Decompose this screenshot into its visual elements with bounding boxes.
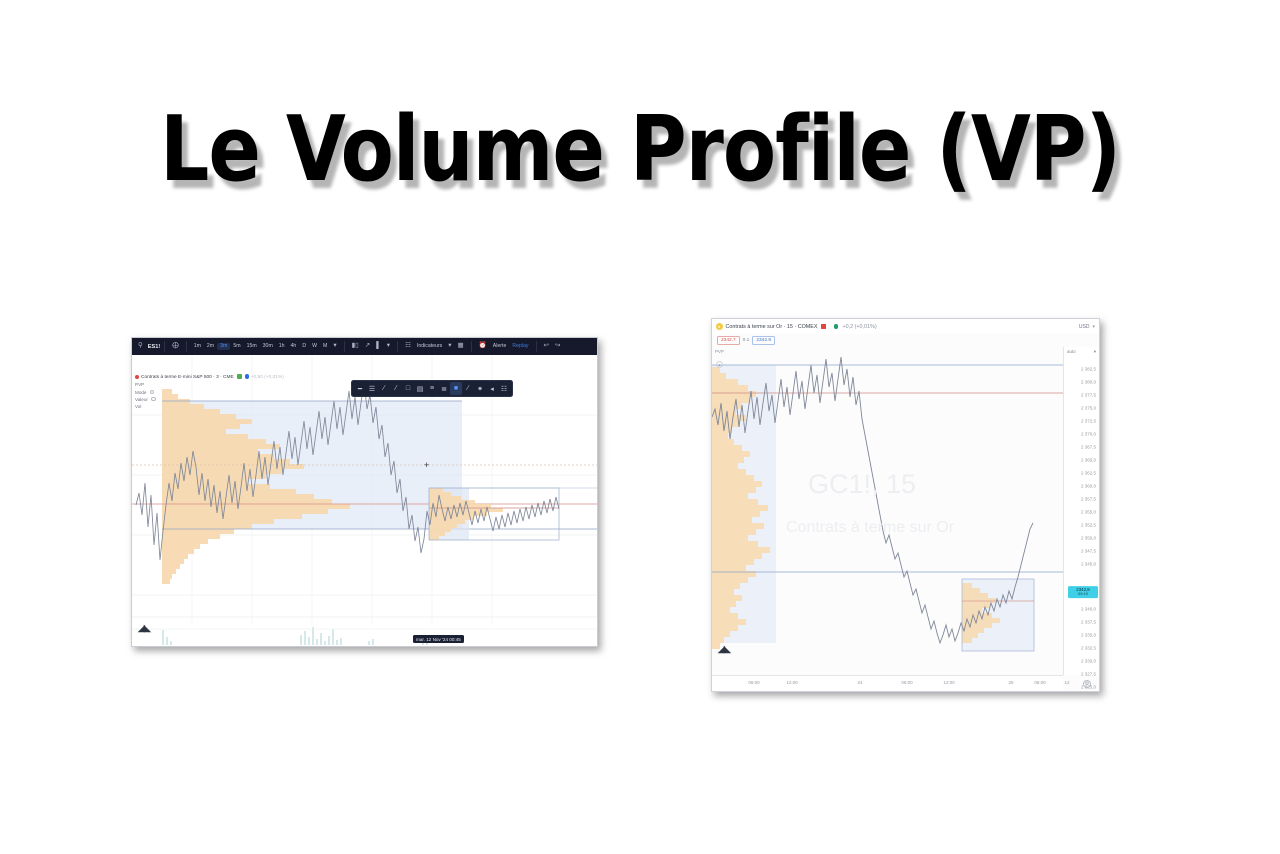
text-tool-icon[interactable]: ⁕ (474, 382, 486, 395)
price-tick: 2 380,0 (1081, 380, 1096, 385)
pitchfork-icon[interactable]: ∕ (462, 382, 474, 395)
indicators-button[interactable]: Indicateurs (414, 343, 445, 350)
time-tick: 12:00 (943, 680, 954, 685)
arrow-marker-icon[interactable]: ◂ (486, 382, 498, 395)
toolbar-divider (471, 341, 472, 352)
price-tick: 2 372,5 (1081, 419, 1096, 424)
toolbar-divider (536, 341, 537, 352)
horizontal-line-icon[interactable]: ━ (354, 382, 366, 395)
green-dot-icon (834, 324, 839, 329)
chevron-up-icon[interactable]: ▴ (716, 361, 723, 368)
currency-label[interactable]: USD (1079, 324, 1090, 330)
ray-line-icon[interactable]: ⁄ (390, 382, 402, 395)
price-tick: 2 360,0 (1081, 484, 1096, 489)
green-square-icon (237, 374, 242, 379)
right-price-scale[interactable]: auto ▾ 2 382,5 2 380,0 2 377,5 2 375,0 2… (1063, 347, 1099, 675)
time-tick: 24 (857, 680, 862, 685)
timeframe-2m[interactable]: 2m (204, 343, 217, 350)
timeframe-m[interactable]: M (320, 343, 330, 350)
red-square-icon (821, 324, 826, 329)
price-tick: 2 347,5 (1081, 549, 1096, 554)
right-indicator-label: PVP (715, 349, 724, 354)
toolbar-divider (164, 341, 165, 352)
fixed-range-volume-profile-icon[interactable]: ■ (450, 382, 462, 395)
price-tick: 2 370,0 (1081, 432, 1096, 437)
spread-value: 0.1 (743, 338, 750, 343)
left-chart-plot[interactable]: Contrats à terme E-mini S&P 500 · 3 · CM… (132, 355, 597, 646)
time-tick: 06:00 (1034, 680, 1045, 685)
replay-button[interactable]: Replay (509, 343, 531, 350)
symbol-dot-icon (135, 375, 139, 379)
price-tick: 2 345,0 (1081, 562, 1096, 567)
time-tick: 06:00 (748, 680, 759, 685)
chevron-down-icon[interactable]: ▾ (384, 343, 393, 350)
undo-icon[interactable]: ↩ (541, 343, 552, 350)
timeframe-3m[interactable]: 3m (217, 343, 230, 350)
right-time-axis[interactable]: 06:00 12:00 24 06:00 12:00 25 06:00 12 (712, 675, 1063, 691)
redo-icon[interactable]: ↪ (552, 343, 563, 350)
gold-bar-icon: ● (716, 323, 723, 330)
rectangle-icon[interactable]: □ (402, 382, 414, 395)
page-title: Le Volume Profile (VP) (0, 96, 1280, 201)
price-tick: 2 375,0 (1081, 406, 1096, 411)
timeframe-15m[interactable]: 15m (244, 343, 260, 350)
chevron-down-icon[interactable]: ▾ (1092, 324, 1095, 330)
tradingview-logo-icon: ◢◣ (138, 623, 150, 634)
right-chart-header: ● Contrats à terme sur Or · 15 · COMEX +… (712, 319, 1099, 334)
legend-indicator-name: PVP (135, 381, 284, 388)
alert-clock-icon[interactable]: ⏰ (476, 343, 490, 350)
price-scale-mode-label[interactable]: auto (1067, 349, 1076, 355)
timeframe-1h[interactable]: 1h (276, 343, 288, 350)
price-scale-header[interactable]: auto ▾ (1064, 347, 1099, 355)
time-tick: 25 (1008, 680, 1013, 685)
floating-drawing-toolbar[interactable]: ━ ☰ ∕ ⁄ □ ▤ ≡ ≣ ■ ∕ ⁕ ◂ ☷ (351, 380, 513, 397)
text-note-icon[interactable]: ☰ (366, 382, 378, 395)
ask-price[interactable]: 2342.8 (752, 336, 775, 345)
price-tick: 2 340,0 (1081, 607, 1096, 612)
price-tick: 2 330,0 (1081, 659, 1096, 664)
timeframe-30m[interactable]: 30m (260, 343, 276, 350)
left-chart-legend: Contrats à terme E-mini S&P 500 · 3 · CM… (135, 374, 284, 410)
indicators-icon[interactable]: ☷ (402, 343, 414, 350)
price-tick: 2 382,5 (1081, 367, 1096, 372)
timeframe-d[interactable]: D (299, 343, 309, 350)
bid-price[interactable]: 2342.7 (717, 336, 740, 345)
legend-mode-label: Mode (135, 390, 147, 395)
right-chart-title: Contrats à terme sur Or · 15 · COMEX (726, 324, 818, 330)
left-chart-screenshot: ⚲ ES1! ⨁ 1m 2m 3m 5m 15m 30m 1h 4h D W M… (131, 337, 598, 647)
price-tick: 2 362,5 (1081, 471, 1096, 476)
right-chart-plot[interactable]: PVP ▴ GC1!, 15 Contrats à terme sur Or (712, 347, 1063, 675)
toolbar-divider (186, 341, 187, 352)
legend-vol-row: Vol (135, 403, 284, 410)
price-tick: 2 337,5 (1081, 620, 1096, 625)
legend-value-row: Valeur (135, 396, 284, 403)
grid-templates-icon[interactable]: ▦ (455, 343, 467, 350)
line-chart-icon[interactable]: ↗ (362, 343, 373, 350)
legend-mode-row: Mode (135, 389, 284, 396)
search-icon[interactable]: ⚲ (135, 343, 146, 350)
bar-chart-icon[interactable]: ▌ (373, 343, 384, 350)
legend-vol-label: Vol (135, 404, 141, 409)
timeframe-4h[interactable]: 4h (288, 343, 300, 350)
right-chart-screenshot: ● Contrats à terme sur Or · 15 · COMEX +… (711, 318, 1100, 692)
time-tick: 12 (1064, 680, 1069, 685)
right-chart-quotes: 2342.7 0.1 2342.8 (712, 334, 1099, 347)
bar-countdown: 09:10 (1070, 592, 1096, 597)
price-tick: 2 350,0 (1081, 536, 1096, 541)
current-price-pill: 2342,8 09:10 (1068, 586, 1098, 598)
magnet-icon[interactable]: ☷ (498, 382, 510, 395)
timeframe-w[interactable]: W (309, 343, 320, 350)
short-position-icon[interactable]: ≣ (438, 382, 450, 395)
crosshair-plus-icon: + (424, 461, 429, 470)
toolbar-divider (344, 341, 345, 352)
price-tick: 2 357,5 (1081, 497, 1096, 502)
legend-symbol-title: Contrats à terme E-mini S&P 500 · 3 · CM… (141, 375, 234, 380)
time-tick: 06:00 (901, 680, 912, 685)
right-chart-change: +0,2 (+0,01%) (842, 324, 876, 330)
long-position-icon[interactable]: ≡ (426, 382, 438, 395)
legend-symbol-row: Contrats à terme E-mini S&P 500 · 3 · CM… (135, 374, 284, 381)
timeframe-5m[interactable]: 5m (230, 343, 243, 350)
price-tick: 2 377,5 (1081, 393, 1096, 398)
price-tick: 2 352,5 (1081, 523, 1096, 528)
alert-button[interactable]: Alerte (490, 343, 510, 350)
toolbar-divider (397, 341, 398, 352)
table-icon[interactable]: ▤ (414, 382, 426, 395)
legend-change: +0,50 (+0,01%) (251, 375, 284, 380)
price-tick: 2 332,5 (1081, 646, 1096, 651)
plus-circle-icon[interactable]: ⨁ (169, 343, 182, 350)
price-tick: 2 327,5 (1081, 672, 1096, 677)
legend-value-label: Valeur (135, 397, 148, 402)
chevron-down-icon[interactable]: ▾ (1094, 349, 1096, 355)
price-tick: 2 355,0 (1081, 510, 1096, 515)
mode-toggle-icon[interactable] (150, 390, 155, 395)
left-chart-toolbar: ⚲ ES1! ⨁ 1m 2m 3m 5m 15m 30m 1h 4h D W M… (132, 338, 597, 355)
candlestick-icon[interactable]: ▮▯ (349, 343, 362, 350)
value-toggle-icon[interactable] (151, 397, 156, 402)
time-tooltip: mar. 12 Nov '24 00:45 (413, 635, 464, 643)
timeframe-1m[interactable]: 1m (191, 343, 204, 350)
chevron-down-icon[interactable]: ▾ (330, 343, 339, 350)
tradingview-logo-icon: ◢◣ (718, 644, 730, 655)
symbol-button[interactable]: ES1! (146, 344, 160, 350)
price-tick: 2 365,0 (1081, 458, 1096, 463)
chevron-down-icon[interactable]: ▾ (445, 343, 454, 350)
right-chart-svg (712, 347, 1063, 675)
trend-line-icon[interactable]: ∕ (378, 382, 390, 395)
price-tick: 2 335,0 (1081, 633, 1096, 638)
price-tick: 2 367,5 (1081, 445, 1096, 450)
time-tick: 12:00 (786, 680, 797, 685)
gear-icon[interactable]: ⚙ (1083, 680, 1091, 688)
blue-circle-icon (245, 374, 250, 379)
